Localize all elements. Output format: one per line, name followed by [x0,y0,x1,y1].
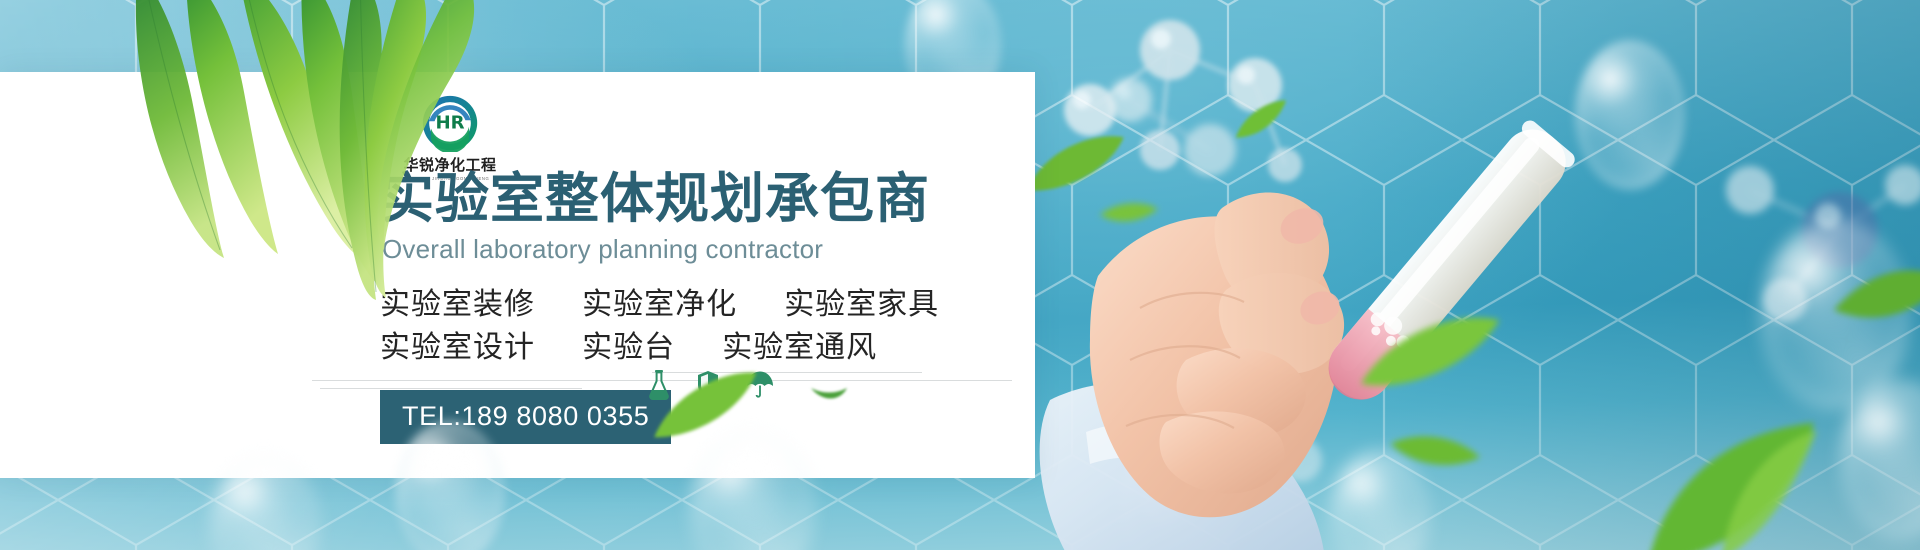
flask-icon [648,370,670,400]
page-subtitle: Overall laboratory planning contractor [382,236,823,262]
feature-icon-row [648,370,774,400]
service-item: 实验室装修 [380,287,535,322]
svg-text:HR: HR [435,112,464,133]
service-item: 实验室净化 [582,287,737,322]
molecule-model-icon [1090,60,1270,210]
service-row-2: 实验室设计 实验台 实验室通风 [380,327,939,370]
content-card: HR 华锐净化工程 HUARUI JINGHUA GONGCHENG 实验室整体… [0,72,1035,478]
service-item: 实验室家具 [784,287,939,322]
page-title: 实验室整体规划承包商 [380,172,930,226]
circular-logo-icon: HR [421,94,479,152]
service-row-1: 实验室装修 实验室净化 实验室家具 [380,284,939,327]
flying-leaf [810,384,848,404]
laboratory-banner: HR 华锐净化工程 HUARUI JINGHUA GONGCHENG 实验室整体… [0,0,1920,550]
service-item: 实验室通风 [722,330,877,365]
shield-icon [696,370,720,400]
service-item: 实验室设计 [380,330,535,365]
umbrella-icon [746,370,774,400]
glass-bubble [1575,40,1685,190]
service-list: 实验室装修 实验室净化 实验室家具 实验室设计 实验台 实验室通风 [380,284,939,369]
service-item: 实验台 [582,330,675,365]
